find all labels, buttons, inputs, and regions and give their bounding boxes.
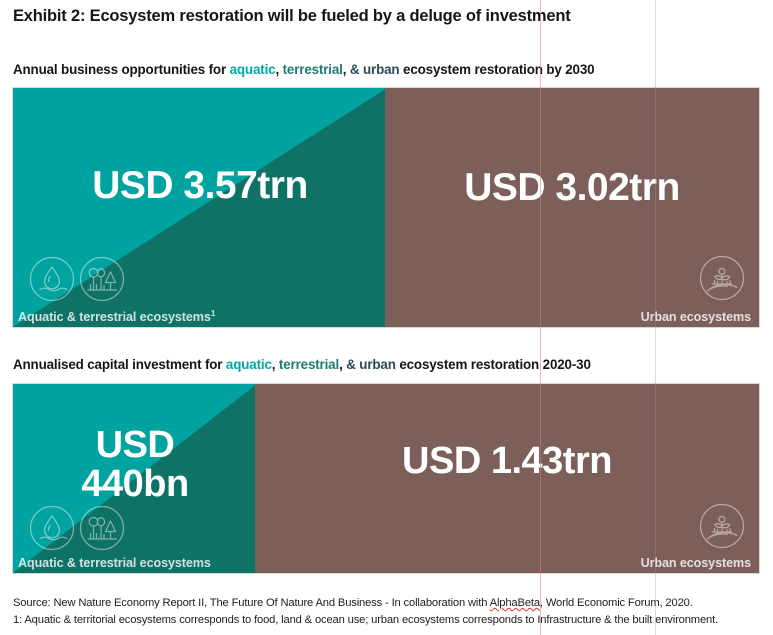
footnote-source: Source: New Nature Economy Report II, Th… [13, 595, 765, 612]
caption-aquatic-1: Aquatic & terrestrial ecosystems1 [18, 308, 215, 324]
caption-urban-2: Urban ecosystems [641, 556, 751, 570]
value-aquatic-1: USD 3.57trn [13, 166, 387, 206]
value-urban-2: USD 1.43trn [255, 442, 759, 481]
footnote-note-1: 1: Aquatic & territorial ecosystems corr… [13, 612, 765, 629]
subtitle-prefix: Annual business opportunities for [13, 62, 230, 77]
subtitle-suffix: ecosystem restoration 2020-30 [396, 357, 591, 372]
subtitle-sep-1: , [275, 62, 282, 77]
footnote-source-suffix: , World Economic Forum, 2020. [540, 597, 693, 609]
section-1-subtitle: Annual business opportunities for aquati… [13, 62, 765, 77]
value-urban-1: USD 3.02trn [385, 168, 759, 208]
footnote-marker: 1 [211, 308, 216, 318]
subtitle-sep-1: , [272, 357, 279, 372]
section-1-panel: USD 3.57trn [12, 87, 760, 328]
footnote-misspelled-word: AlphaBeta [490, 597, 540, 609]
caption-aquatic-2: Aquatic & terrestrial ecosystems [18, 556, 211, 570]
exhibit-title: Exhibit 2: Ecosystem restoration will be… [13, 6, 763, 27]
urban-plant-path-icon [699, 255, 745, 301]
forest-trees-icon [79, 256, 125, 302]
footnotes: Source: New Nature Economy Report II, Th… [13, 595, 765, 629]
subtitle-sep-2: , [343, 62, 350, 77]
keyword-terrestrial: terrestrial [283, 62, 343, 77]
water-droplet-icon [29, 256, 75, 302]
urban-plant-path-icon [699, 503, 745, 549]
keyword-aquatic: aquatic [226, 357, 272, 372]
keyword-urban: & urban [350, 62, 400, 77]
block-aquatic-terrestrial-1[interactable]: USD 3.57trn [13, 88, 387, 327]
section-2-panel: USD 440bn Aquatic & terrestr [12, 383, 760, 574]
keyword-urban: & urban [346, 357, 396, 372]
keyword-aquatic: aquatic [230, 62, 276, 77]
block-urban-1[interactable]: USD 3.02trn Urban ecosystems [385, 88, 759, 327]
subtitle-prefix: Annualised capital investment for [13, 357, 226, 372]
keyword-terrestrial: terrestrial [279, 357, 339, 372]
value-aquatic-2: USD 440bn [13, 426, 257, 504]
block-aquatic-terrestrial-2[interactable]: USD 440bn Aquatic & terrestr [13, 384, 257, 573]
section-2-subtitle: Annualised capital investment for aquati… [13, 357, 765, 372]
forest-trees-icon [79, 505, 125, 551]
subtitle-suffix: ecosystem restoration by 2030 [399, 62, 594, 77]
caption-urban-1: Urban ecosystems [641, 310, 751, 324]
caption-text: Aquatic & terrestrial ecosystems [18, 310, 211, 324]
water-droplet-icon [29, 505, 75, 551]
block-urban-2[interactable]: USD 1.43trn Urban ecosystems [255, 384, 759, 573]
footnote-source-prefix: Source: New Nature Economy Report II, Th… [13, 597, 490, 609]
